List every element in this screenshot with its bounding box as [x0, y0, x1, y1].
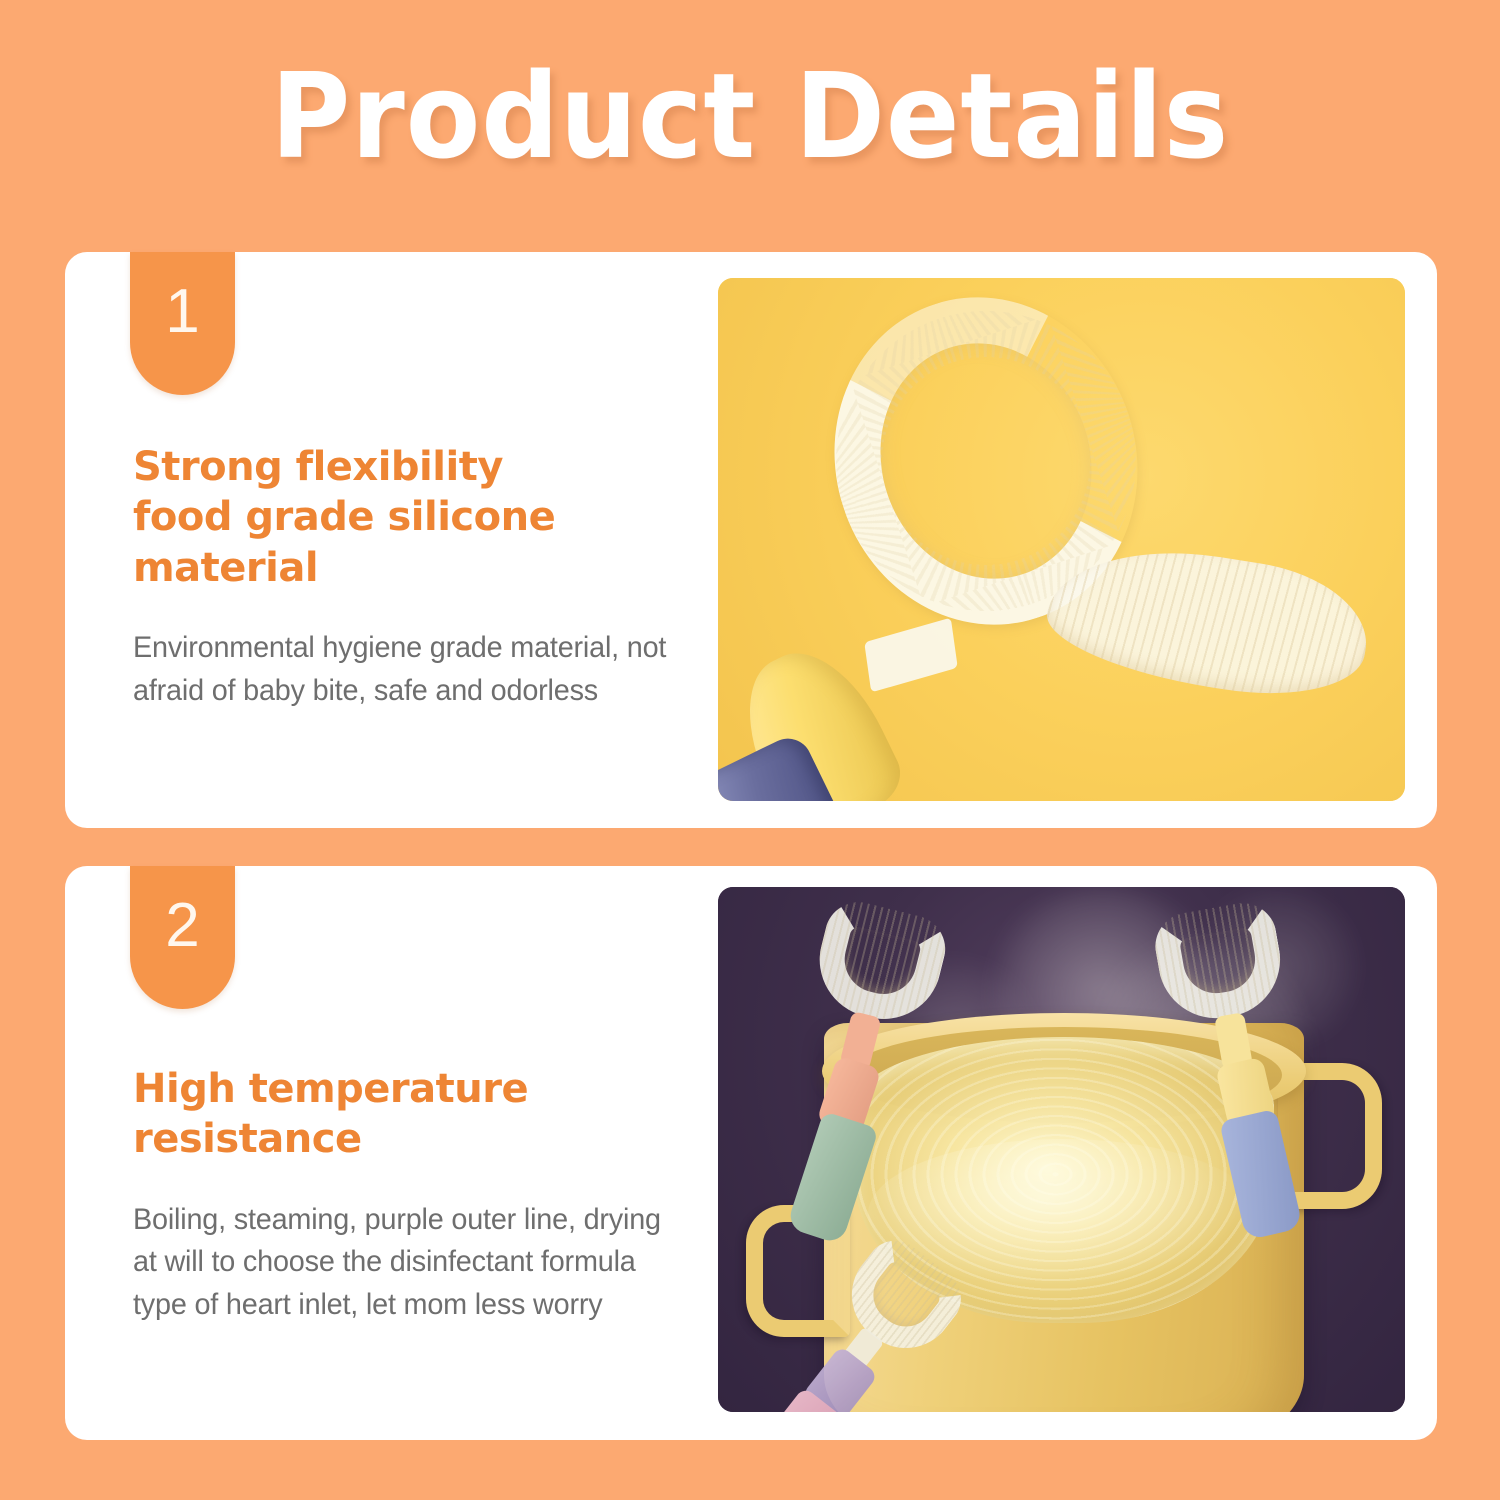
page-title: Product Details: [60, 52, 1440, 182]
card-1-number-label: 1: [165, 276, 199, 347]
card-1-body-text: Environmental hygiene grade material, no…: [133, 627, 671, 712]
detail-card-2: 2 High temperature resistance Boiling, s…: [65, 866, 1437, 1440]
u-shaped-silicone-brush-head-photo: [718, 278, 1405, 801]
card-2-headline: High temperature resistance: [133, 1064, 693, 1165]
card-2-body-text: Boiling, steaming, purple outer line, dr…: [133, 1199, 671, 1327]
card-1-text-column: Strong flexibility food grade silicone m…: [133, 442, 693, 712]
card-1-number-badge: 1: [130, 252, 235, 395]
boiling-pot-sterilization-photo: [718, 887, 1405, 1412]
card-2-number-badge: 2: [130, 866, 235, 1009]
detail-card-1: 1 Strong flexibility food grade silicone…: [65, 252, 1437, 828]
card-2-text-column: High temperature resistance Boiling, ste…: [133, 1064, 693, 1327]
card-1-headline: Strong flexibility food grade silicone m…: [133, 442, 693, 593]
card-2-number-label: 2: [165, 890, 199, 961]
